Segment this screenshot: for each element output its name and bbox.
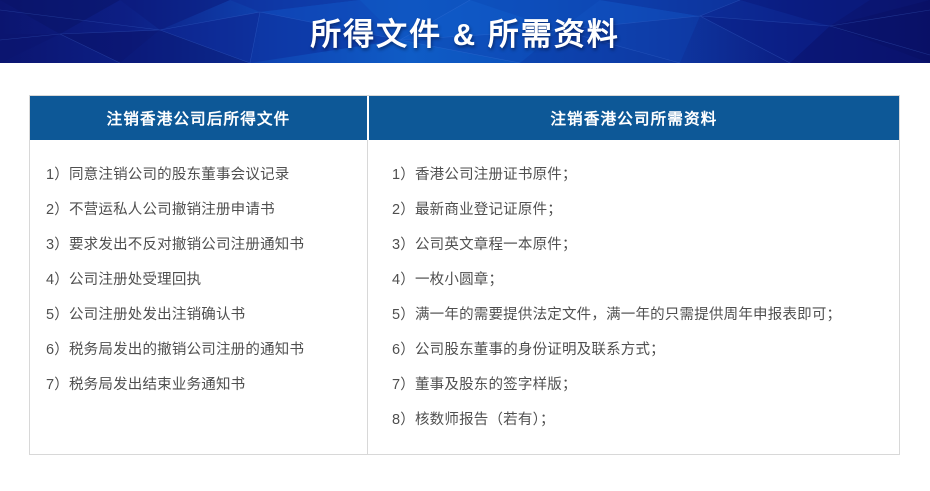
column-header-required-materials: 注销香港公司所需资料 — [369, 96, 899, 140]
list-item: 6）公司股东董事的身份证明及联系方式； — [392, 333, 899, 368]
documents-requirements-table: 注销香港公司后所得文件 注销香港公司所需资料 1）同意注销公司的股东董事会议记录… — [29, 95, 900, 455]
list-item: 5）满一年的需要提供法定文件，满一年的只需提供周年申报表即可； — [392, 298, 899, 333]
column-header-obtained-documents: 注销香港公司后所得文件 — [30, 96, 367, 140]
list-item: 7）董事及股东的签字样版； — [392, 368, 899, 403]
list-item: 3）要求发出不反对撤销公司注册通知书 — [46, 228, 367, 263]
list-item: 6）税务局发出的撤销公司注册的通知书 — [46, 333, 367, 368]
list-item: 2）不营运私人公司撤销注册申请书 — [46, 193, 367, 228]
list-item: 1）同意注销公司的股东董事会议记录 — [46, 158, 367, 193]
table-header-row: 注销香港公司后所得文件 注销香港公司所需资料 — [30, 96, 899, 140]
page-banner: 所得文件 & 所需资料 — [0, 0, 930, 63]
required-materials-list: 1）香港公司注册证书原件； 2）最新商业登记证原件； 3）公司英文章程一本原件；… — [368, 140, 899, 454]
list-item: 4）一枚小圆章； — [392, 263, 899, 298]
list-item: 5）公司注册处发出注销确认书 — [46, 298, 367, 333]
list-item: 2）最新商业登记证原件； — [392, 193, 899, 228]
list-item: 1）香港公司注册证书原件； — [392, 158, 899, 193]
list-item: 4）公司注册处受理回执 — [46, 263, 367, 298]
list-item: 7）税务局发出结束业务通知书 — [46, 368, 367, 403]
table-body: 1）同意注销公司的股东董事会议记录 2）不营运私人公司撤销注册申请书 3）要求发… — [30, 140, 899, 454]
obtained-documents-list: 1）同意注销公司的股东董事会议记录 2）不营运私人公司撤销注册申请书 3）要求发… — [30, 140, 368, 454]
list-item: 8）核数师报告（若有）； — [392, 403, 899, 438]
list-item: 3）公司英文章程一本原件； — [392, 228, 899, 263]
page-title: 所得文件 & 所需资料 — [0, 0, 930, 63]
